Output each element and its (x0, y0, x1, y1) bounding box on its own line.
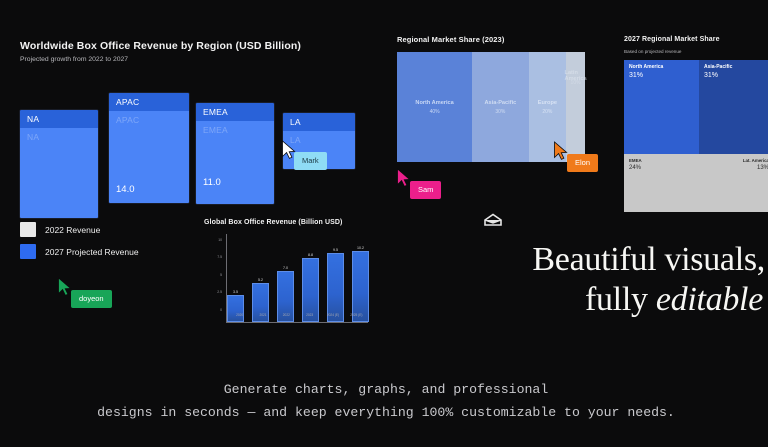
region-column-ghost-label: EMEA (203, 125, 228, 135)
bar[interactable] (352, 251, 369, 322)
region-column-apac[interactable]: APAC APAC 14.0 (109, 93, 189, 203)
market-share-segment[interactable]: Lat. America13% (699, 154, 768, 212)
x-axis-tick-label: 2022 (283, 313, 290, 317)
bar-group: 10.2 (353, 246, 368, 322)
bar-chart-x-axis (226, 322, 368, 323)
bar-group: 9.5 (328, 246, 343, 322)
region-column-header: NA (20, 110, 98, 128)
y-axis-tick-label: 2.5 (217, 290, 222, 294)
market-share-segment[interactable]: Asia-Pacific31% (699, 60, 768, 154)
bar-value-label: 7.0 (283, 266, 288, 270)
y-axis-tick-label: 7.5 (217, 255, 222, 259)
segment-name: Asia-Pacific (704, 64, 768, 70)
region-column-ghost-label: APAC (116, 115, 139, 125)
headline-block: Beautiful visuals, fully editable (475, 240, 765, 320)
segment-percent: 20% (542, 109, 552, 115)
bar[interactable] (327, 253, 344, 322)
y-axis-tick-label: 5 (220, 273, 222, 277)
regions-panel: Worldwide Box Office Revenue by Region (… (0, 28, 375, 213)
segment-name: Europe (538, 100, 557, 106)
bar-value-label: 9.5 (333, 248, 338, 252)
x-axis-tick-label: 2024 (E) (327, 313, 339, 317)
segment-name: North America (415, 100, 453, 106)
bar-group: 3.5 (228, 246, 243, 322)
collab-cursor-label: Mark (294, 152, 327, 170)
cake-slice-icon (483, 212, 503, 233)
market-share-segment[interactable]: Asia-Pacific30% (472, 52, 528, 162)
bar-value-label: 10.2 (357, 246, 364, 250)
collab-cursor-doyeon[interactable]: doyeon (57, 277, 73, 297)
region-column-header: LA (283, 113, 355, 131)
legend-swatch (20, 244, 36, 259)
market-share-segment[interactable]: North America31% (624, 60, 699, 154)
segment-percent: 10% (571, 80, 581, 86)
bar-group: 7.0 (278, 246, 293, 322)
caption-line-2: designs in seconds — and keep everything… (24, 401, 748, 424)
segment-name: North America (629, 64, 694, 70)
x-axis-tick-label: 2023 (306, 313, 313, 317)
x-axis-tick-label: 2021 (259, 313, 266, 317)
chart-legend: 2022 Revenue 2027 Projected Revenue (20, 222, 139, 266)
segment-name: Lat. America (704, 158, 768, 163)
x-axis-tick-label: 2020 (236, 313, 243, 317)
region-column-na[interactable]: NA NA 14.0 (20, 110, 98, 218)
headline-line-2-plain: fully (585, 281, 656, 318)
bar-group: 8.8 (303, 246, 318, 322)
global-revenue-bar-chart: Global Box Office Revenue (Billion USD) … (196, 216, 376, 346)
collab-cursor-label: Elon (567, 154, 598, 172)
bar-value-label: 3.5 (233, 290, 238, 294)
bar-chart-plot: 107.552.50 3.55.27.08.89.510.2 202020212… (210, 234, 368, 334)
legend-swatch (20, 222, 36, 237)
y-axis-tick-label: 10 (218, 238, 222, 242)
segment-percent: 24% (629, 165, 694, 171)
segment-percent: 31% (629, 72, 694, 79)
region-column-value: 14.0 (116, 184, 135, 195)
market-share-segment[interactable]: EMEA24% (624, 154, 699, 212)
segment-percent: 30% (495, 109, 505, 115)
bar-chart-title: Global Box Office Revenue (Billion USD) (204, 219, 342, 226)
collab-cursor-label: Sam (410, 181, 441, 199)
y-axis-tick-label: 0 (220, 308, 222, 312)
collab-cursor-label: doyeon (71, 290, 112, 308)
collab-cursor-sam[interactable]: Sam (396, 168, 412, 188)
x-axis-tick-label: 2025 (E) (350, 313, 362, 317)
segment-name: Asia-Pacific (485, 100, 517, 106)
market-share-2027-chart: North America31%Asia-Pacific31%EMEA24%La… (624, 60, 768, 212)
headline-line-2-emphasis: editable (656, 281, 763, 318)
region-column-value: 11.0 (203, 177, 221, 188)
segment-percent: 31% (704, 72, 768, 79)
segment-percent: 40% (430, 109, 440, 115)
collab-cursor-elon[interactable]: Elon (553, 141, 569, 161)
caption-line-1: Generate charts, graphs, and professiona… (24, 378, 748, 401)
region-column-header: EMEA (196, 103, 274, 121)
headline-line-2: fully editable (475, 280, 765, 320)
market-share-2023-title: Regional Market Share (2023) (397, 35, 504, 44)
bar-chart-bars: 3.55.27.08.89.510.2 (228, 246, 368, 322)
legend-item: 2027 Projected Revenue (20, 244, 139, 259)
bar-value-label: 8.8 (308, 253, 313, 257)
market-share-2027-panel: 2027 Regional Market Share Based on proj… (618, 30, 768, 190)
bar-group: 5.2 (253, 246, 268, 322)
headline-line-1: Beautiful visuals, (475, 240, 765, 280)
market-share-2027-subtitle: Based on projected revenue (624, 49, 681, 54)
bar[interactable] (227, 295, 244, 322)
slide-canvas: Worldwide Box Office Revenue by Region (… (0, 0, 768, 447)
region-column-body: APAC 14.0 (109, 111, 189, 203)
market-share-2027-title: 2027 Regional Market Share (624, 36, 720, 43)
segment-percent: 13% (704, 165, 768, 171)
collab-cursor-mark[interactable]: Mark (281, 140, 297, 160)
legend-item: 2022 Revenue (20, 222, 139, 237)
bar-chart-y-axis: 107.552.50 (210, 234, 227, 322)
legend-label: 2027 Projected Revenue (45, 247, 139, 257)
market-share-segment[interactable]: North America40% (397, 52, 472, 162)
bar-value-label: 5.2 (258, 278, 263, 282)
caption-block: Generate charts, graphs, and professiona… (24, 378, 748, 424)
region-column-body: EMEA 11.0 (196, 121, 274, 204)
segment-name: EMEA (629, 158, 694, 163)
legend-label: 2022 Revenue (45, 225, 100, 235)
regions-panel-title: Worldwide Box Office Revenue by Region (… (20, 40, 301, 52)
region-column-header: APAC (109, 93, 189, 111)
regions-panel-subtitle: Projected growth from 2022 to 2027 (20, 56, 128, 63)
region-column-ghost-label: NA (27, 132, 39, 142)
region-column-body: NA 14.0 (20, 128, 98, 218)
region-column-emea[interactable]: EMEA EMEA 11.0 (196, 103, 274, 204)
